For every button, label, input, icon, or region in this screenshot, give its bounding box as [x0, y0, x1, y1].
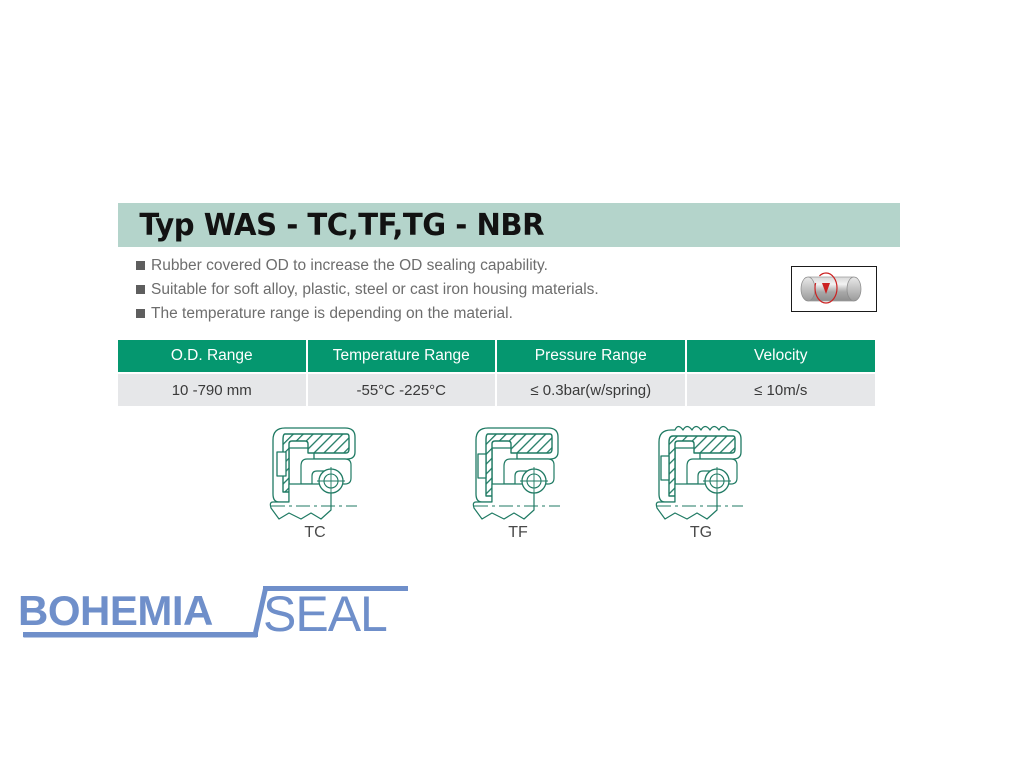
list-item: The temperature range is depending on th…	[136, 304, 756, 325]
seal-diagram-tc: TC	[240, 418, 390, 542]
bullet-square-icon	[136, 261, 145, 270]
bohemia-seal-logo: BOHEMIA SEAL	[18, 583, 418, 645]
cell-pressure-range: ≤ 0.3bar(w/spring)	[497, 374, 685, 406]
logo-underline-bar	[23, 632, 258, 637]
column-header-temperature-range: Temperature Range	[308, 340, 496, 372]
bullet-square-icon	[136, 309, 145, 318]
cell-velocity: ≤ 10m/s	[687, 374, 876, 406]
specification-table: O.D. Range Temperature Range Pressure Ra…	[118, 340, 875, 406]
feature-text: Suitable for soft alloy, plastic, steel …	[151, 280, 599, 299]
feature-list: Rubber covered OD to increase the OD sea…	[136, 256, 756, 328]
product-title-band: Typ WAS - TC,TF,TG - NBR	[118, 203, 900, 247]
page-title: Typ WAS - TC,TF,TG - NBR	[118, 208, 544, 243]
column-header-velocity: Velocity	[687, 340, 876, 372]
rotating-shaft-graphic	[792, 267, 875, 310]
seal-label-tc: TC	[240, 524, 390, 542]
logo-graphic: BOHEMIA SEAL	[18, 583, 418, 645]
logo-secondary-text: SEAL	[263, 586, 387, 642]
bullet-square-icon	[136, 285, 145, 294]
list-item: Suitable for soft alloy, plastic, steel …	[136, 280, 756, 301]
cell-temperature-range: -55°C -225°C	[308, 374, 496, 406]
seal-label-tf: TF	[443, 524, 593, 542]
seal-diagram-tg: TG	[626, 418, 776, 542]
table-header-row: O.D. Range Temperature Range Pressure Ra…	[118, 340, 875, 372]
column-header-pressure-range: Pressure Range	[497, 340, 685, 372]
column-header-od-range: O.D. Range	[118, 340, 306, 372]
list-item: Rubber covered OD to increase the OD sea…	[136, 256, 756, 277]
cell-od-range: 10 -790 mm	[118, 374, 306, 406]
seal-label-tg: TG	[626, 524, 776, 542]
seal-diagram-tf: TF	[443, 418, 593, 542]
feature-text: Rubber covered OD to increase the OD sea…	[151, 256, 548, 275]
rotating-shaft-icon	[791, 266, 877, 312]
seal-cross-section-tg-graphic	[645, 418, 757, 522]
logo-top-bar	[263, 586, 408, 591]
seal-cross-section-tf-graphic	[462, 418, 574, 522]
logo-primary-text: BOHEMIA	[18, 587, 213, 634]
table-row: 10 -790 mm -55°C -225°C ≤ 0.3bar(w/sprin…	[118, 374, 875, 406]
feature-text: The temperature range is depending on th…	[151, 304, 513, 323]
seal-diagram-group: TC TF	[118, 418, 738, 558]
seal-cross-section-tc-graphic	[259, 418, 371, 522]
